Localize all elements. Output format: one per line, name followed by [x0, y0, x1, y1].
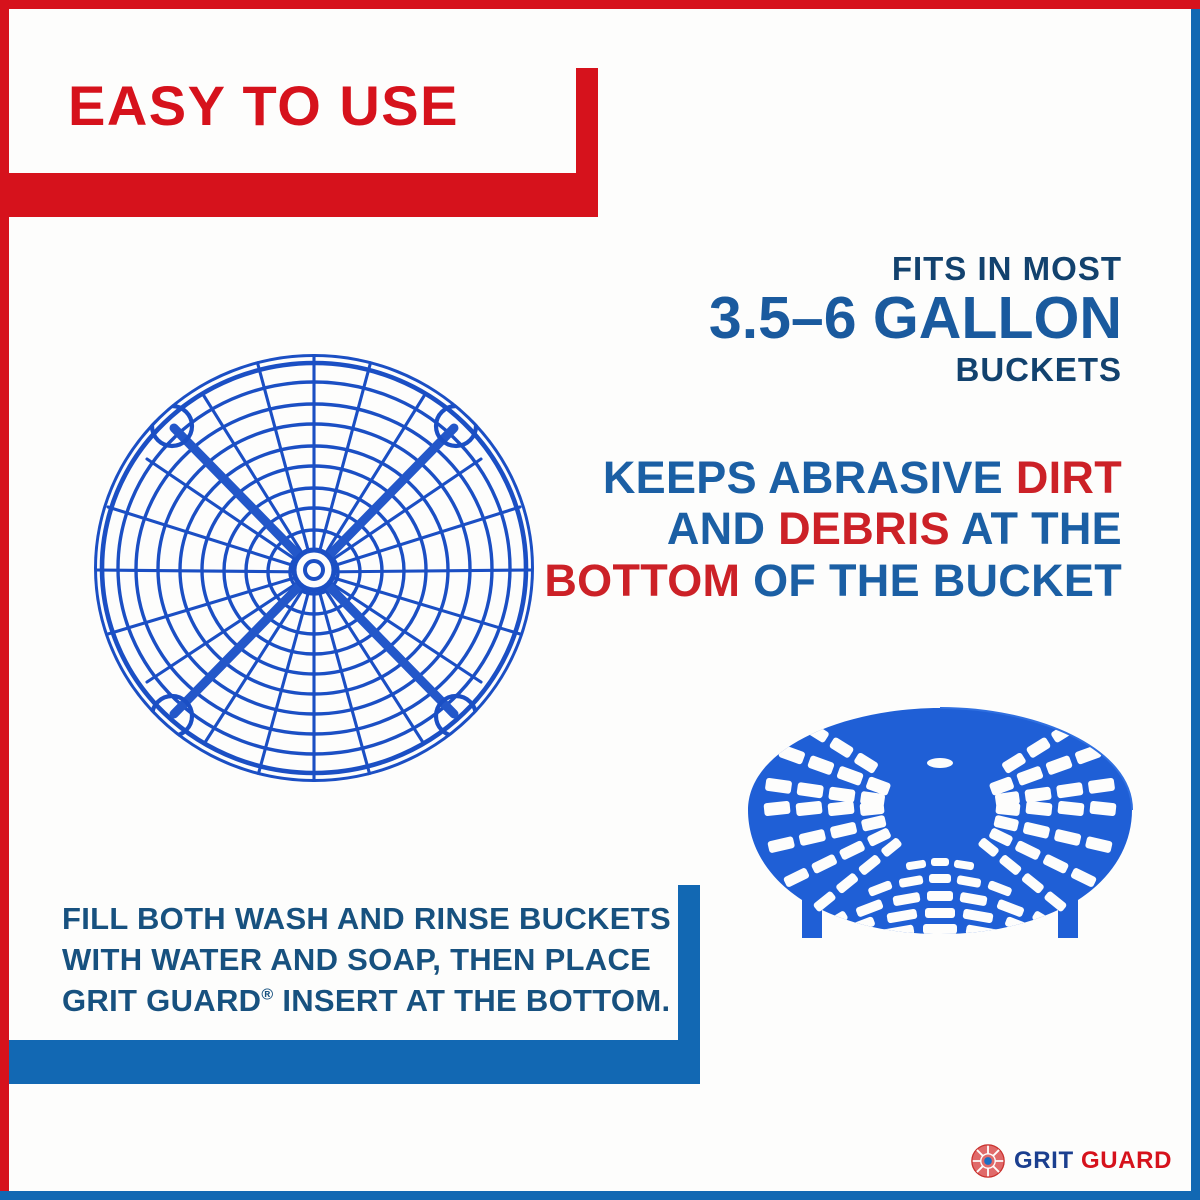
fits-in-most-callout: FITS IN MOST 3.5–6 GALLON BUCKETS [709, 252, 1122, 386]
logo-word-guard: GUARD [1081, 1147, 1172, 1174]
blue-bracket-bar [9, 1040, 700, 1084]
registered-mark: ® [261, 987, 273, 1004]
instructions-line-1: FILL BOTH WASH AND RINSE BUCKETS [62, 898, 671, 939]
fits-line-2: 3.5–6 GALLON [709, 289, 1122, 348]
frame-border-left [0, 0, 9, 1200]
headline-line-1-red: DIRT [1016, 452, 1122, 503]
instructions-line-3-rest: INSERT AT THE BOTTOM. [273, 983, 670, 1018]
headline-line-3-red: BOTTOM [544, 555, 740, 606]
grit-guard-logo: GRIT GUARD [971, 1144, 1172, 1178]
page-title: EASY TO USE [68, 78, 459, 134]
headline-line-1-blue: KEEPS ABRASIVE [603, 452, 1016, 503]
main-headline: KEEPS ABRASIVE DIRT AND DEBRIS AT THE BO… [544, 452, 1122, 606]
frame-border-top [0, 0, 1200, 9]
headline-line-3-blue: OF THE BUCKET [740, 555, 1122, 606]
headline-line-3: BOTTOM OF THE BUCKET [544, 555, 1122, 606]
headline-line-2: AND DEBRIS AT THE [544, 503, 1122, 554]
headline-line-1: KEEPS ABRASIVE DIRT [544, 452, 1122, 503]
infographic-page: EASY TO USE [0, 0, 1200, 1200]
frame-border-bottom [0, 1191, 1200, 1200]
headline-line-2-blue-a: AND [667, 503, 778, 554]
instructions-line-3: GRIT GUARD® INSERT AT THE BOTTOM. [62, 980, 671, 1021]
grit-guard-emblem-icon [971, 1144, 1005, 1178]
logo-word-grit: GRIT [1014, 1147, 1074, 1174]
red-bracket-bar [9, 173, 598, 217]
headline-line-2-blue-b: AT THE [950, 503, 1122, 554]
fits-line-3: BUCKETS [709, 353, 1122, 386]
grit-guard-topdown-grid-diagram [88, 342, 540, 794]
logo-wordmark: GRIT GUARD [1014, 1147, 1172, 1175]
instructions-line-3-brand: GRIT GUARD [62, 983, 261, 1018]
instructions-text: FILL BOTH WASH AND RINSE BUCKETS WITH WA… [62, 898, 671, 1022]
grit-guard-insert-product-photo [740, 700, 1140, 970]
fits-line-1: FITS IN MOST [709, 252, 1122, 285]
red-bracket-vertical [576, 68, 598, 183]
frame-border-right [1191, 0, 1200, 1200]
instructions-line-2: WITH WATER AND SOAP, THEN PLACE [62, 939, 671, 980]
blue-bracket-vertical [678, 885, 700, 1048]
frame-border-right-top [1191, 0, 1200, 9]
headline-line-2-red: DEBRIS [778, 503, 950, 554]
